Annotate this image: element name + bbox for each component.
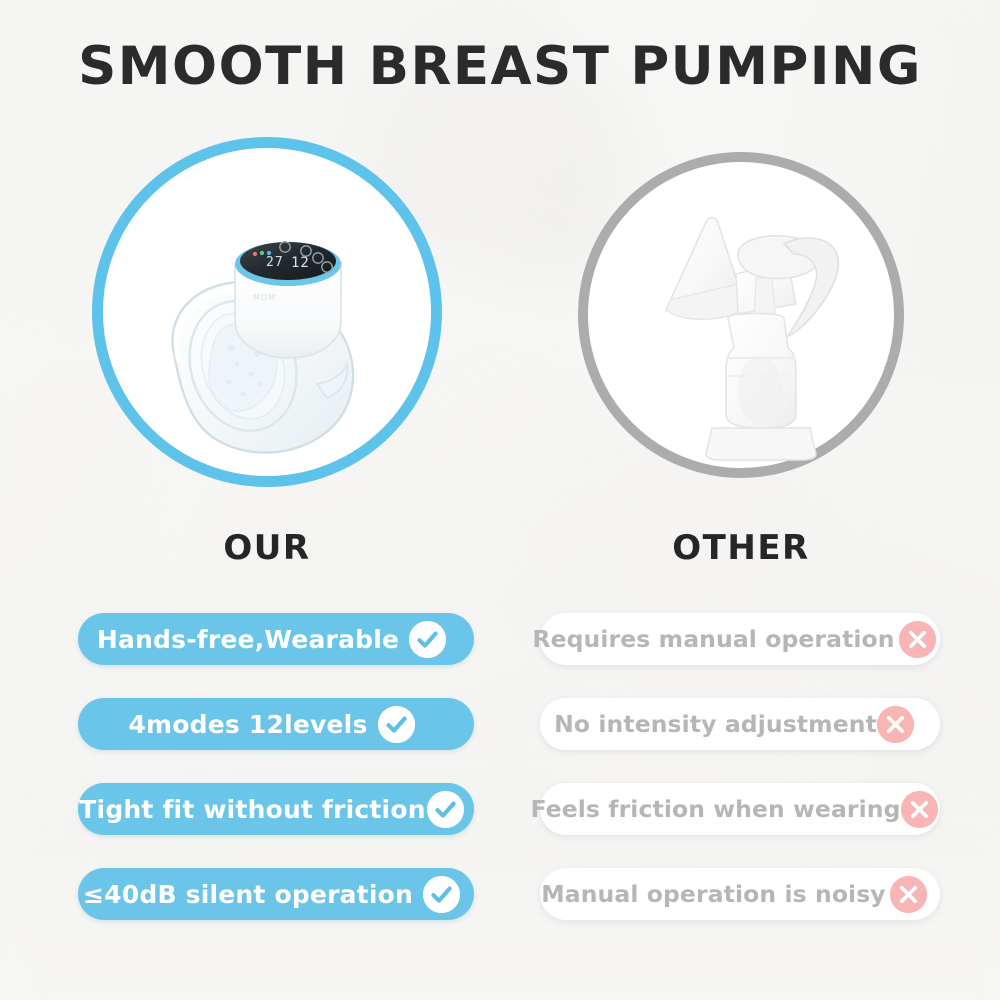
check-circle-icon xyxy=(378,706,415,743)
feature-badge-other[interactable]: Feels friction when wearing xyxy=(540,783,940,835)
feature-label: Feels friction when wearing xyxy=(530,795,900,823)
feature-badge-our[interactable]: Tight fit without friction xyxy=(78,783,474,835)
cross-circle-icon xyxy=(899,621,936,658)
infographic-stage: SMOOTH BREAST PUMPING xyxy=(0,0,1000,1000)
feature-badge-other[interactable]: Manual operation is noisy xyxy=(540,868,940,920)
manual-pump-base xyxy=(706,428,816,460)
page-title: SMOOTH BREAST PUMPING xyxy=(0,36,1000,97)
product-circle-other xyxy=(578,152,904,478)
feature-label: No intensity adjustment xyxy=(554,710,877,738)
pump-brand-mark: MOM xyxy=(253,293,276,302)
feature-badge-our[interactable]: Hands-free,Wearable xyxy=(78,613,474,665)
feature-label: Manual operation is noisy xyxy=(541,880,889,908)
manual-pump-illustration xyxy=(588,162,894,468)
feature-badge-other[interactable]: Requires manual operation xyxy=(540,613,940,665)
feature-label: 4modes 12levels xyxy=(128,710,377,739)
feature-label: Hands-free,Wearable xyxy=(97,625,409,654)
feature-label: Requires manual operation xyxy=(532,625,898,653)
wearable-pump-illustration: 27 12 MOM xyxy=(103,148,431,476)
feature-list-our: Hands-free,Wearable 4modes 12levels Tigh… xyxy=(78,613,474,920)
feature-badge-other[interactable]: No intensity adjustment xyxy=(540,698,940,750)
check-circle-icon xyxy=(427,791,464,828)
manual-pump-bottle-shading xyxy=(738,356,782,424)
check-circle-icon xyxy=(409,621,446,658)
cross-circle-icon xyxy=(890,876,927,913)
feature-badge-our[interactable]: ≤40dB silent operation xyxy=(78,868,474,920)
cross-circle-icon xyxy=(877,706,914,743)
feature-label: Tight fit without friction xyxy=(79,795,426,824)
product-circle-our: 27 12 MOM xyxy=(92,137,442,487)
feature-badge-our[interactable]: 4modes 12levels xyxy=(78,698,474,750)
cross-circle-icon xyxy=(901,791,938,828)
svg-text:27: 27 xyxy=(266,255,284,270)
column-label-other: OTHER xyxy=(578,528,904,568)
svg-text:12: 12 xyxy=(291,255,310,271)
feature-list-other: Requires manual operation No intensity a… xyxy=(540,613,940,920)
column-label-our: OUR xyxy=(92,528,442,568)
check-circle-icon xyxy=(423,876,460,913)
feature-label: ≤40dB silent operation xyxy=(83,880,423,909)
